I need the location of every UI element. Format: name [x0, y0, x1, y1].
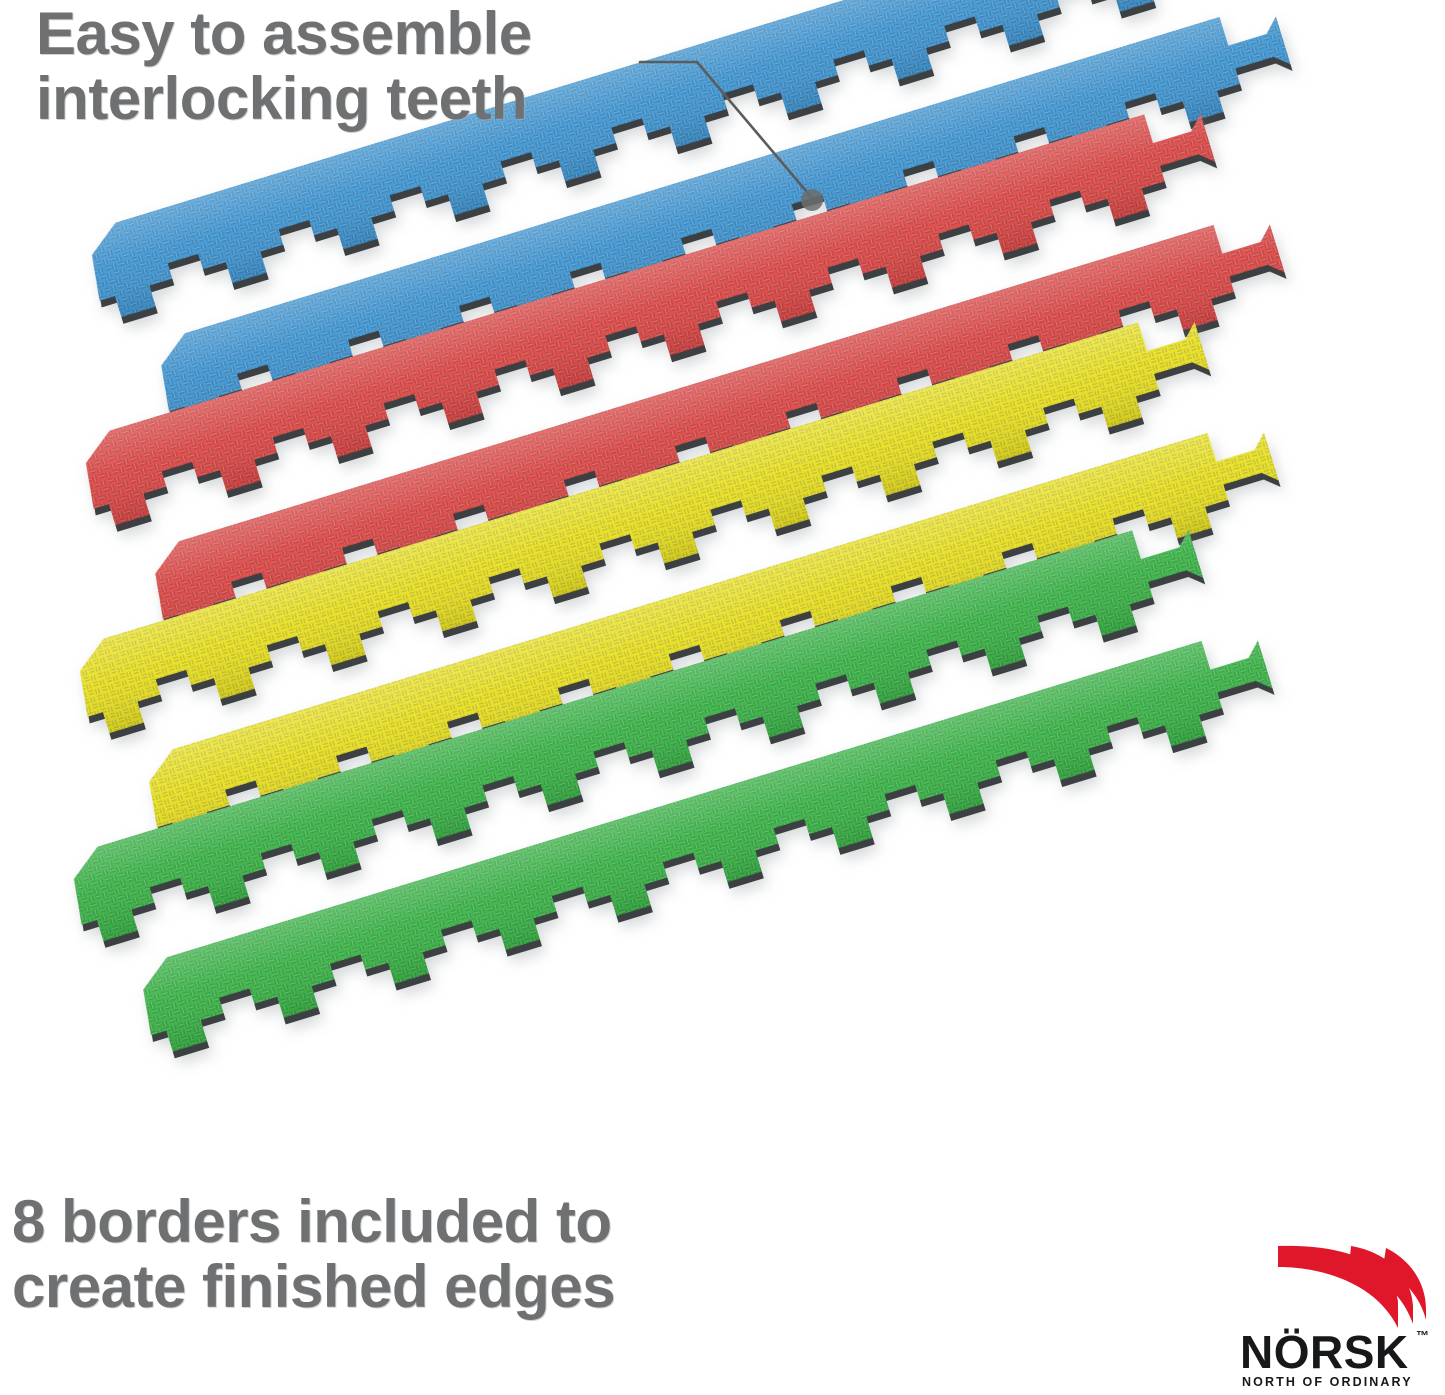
leader-line-dot — [801, 189, 823, 211]
norsk-logo: NÖRSK ™ NORTH OF ORDINARY — [1238, 1240, 1438, 1390]
logo-wordmark: NÖRSK — [1240, 1326, 1409, 1378]
norsk-chevron-swoosh-icon — [1278, 1246, 1426, 1328]
headline-bottom: 8 borders included to create finished ed… — [12, 1190, 615, 1320]
logo-trademark: ™ — [1416, 1328, 1429, 1343]
logo-tagline: NORTH OF ORDINARY — [1242, 1375, 1413, 1389]
foam-border-illustration — [0, 0, 1445, 1395]
product-infographic: Easy to assemble interlocking teeth 8 bo… — [0, 0, 1445, 1395]
headline-top: Easy to assemble interlocking teeth — [36, 2, 532, 132]
